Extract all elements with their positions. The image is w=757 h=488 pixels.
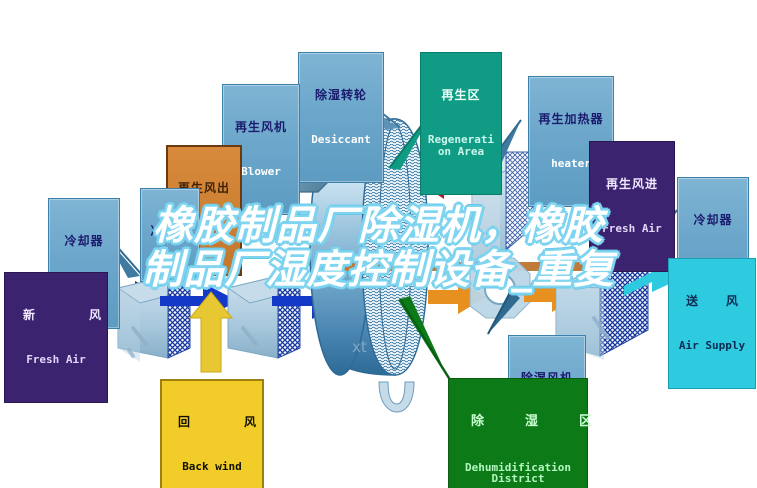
label-dehumidification-district-cn: 除 湿 区 <box>457 415 579 428</box>
label-back-wind[interactable]: 回 风 Back wind <box>160 379 264 488</box>
label-regeneration-blower-cn: 再生风机 <box>228 121 294 133</box>
label-fresh-air-cn: 新 风 <box>13 309 99 321</box>
label-cooler-left-cn: 冷却器 <box>54 235 114 247</box>
label-regeneration-area[interactable]: 再生区 Regenerati on Area <box>420 52 502 195</box>
label-fresh-air-en: Fresh Air <box>13 354 99 365</box>
svg-text:xt: xt <box>352 338 367 356</box>
label-regeneration-fresh-air-en: Fresh Air <box>598 223 666 234</box>
label-air-supply[interactable]: 送 风 Air Supply <box>668 258 756 389</box>
cooler-coil-right <box>228 276 300 358</box>
label-dehumidification-district[interactable]: 除 湿 区 Dehumidification District <box>448 378 588 488</box>
label-regeneration-fresh-air[interactable]: 再生风进 Fresh Air <box>589 141 675 272</box>
label-desiccant-wheel[interactable]: 除湿转轮 Desiccant <box>298 52 384 183</box>
label-desiccant-wheel-en: Desiccant <box>304 134 378 145</box>
label-fresh-air[interactable]: 新 风 Fresh Air <box>4 272 108 403</box>
label-regeneration-heater-cn: 再生加热器 <box>534 113 608 125</box>
diagram-canvas: xt <box>0 0 757 488</box>
label-dehumidification-district-en: Dehumidification District <box>457 462 579 484</box>
dehumidification-blower-housing <box>470 258 530 318</box>
label-air-supply-en: Air Supply <box>675 340 749 351</box>
label-regeneration-area-cn: 再生区 <box>427 89 495 101</box>
label-cooler-right-cn: 冷却器 <box>683 214 743 226</box>
label-regeneration-area-en: Regenerati on Area <box>427 134 495 156</box>
label-cooler-mid-cn: 冷却器 <box>146 225 194 237</box>
label-regeneration-fresh-air-cn: 再生风进 <box>598 178 666 190</box>
label-cooler-mid[interactable]: 冷却器 <box>140 188 200 282</box>
label-back-wind-cn: 回 风 <box>168 416 256 428</box>
label-back-wind-en: Back wind <box>168 461 256 472</box>
label-air-supply-cn: 送 风 <box>675 295 749 307</box>
cooler-coil-left <box>118 276 190 362</box>
label-desiccant-wheel-cn: 除湿转轮 <box>304 89 378 101</box>
